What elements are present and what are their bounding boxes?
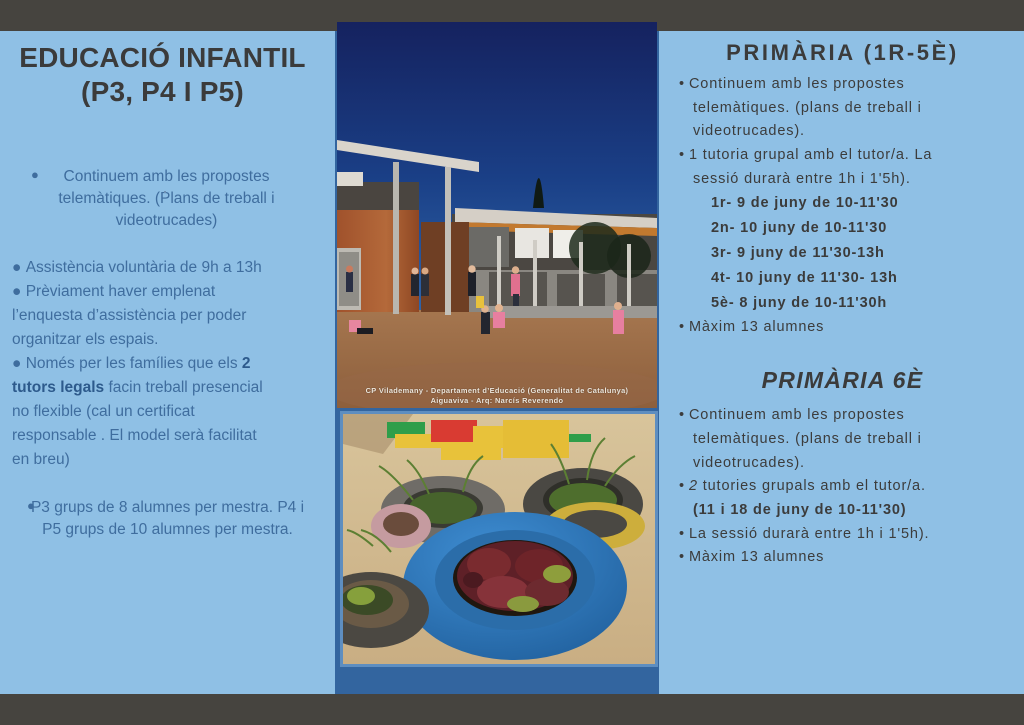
list-item-cont: telemàtiques. (plans de treball i: [679, 428, 1006, 452]
list-item: • Màxim 13 alumnes: [679, 316, 1006, 340]
primaria-1r5e-list: • Continuem amb les propostes telemàtiqu…: [679, 73, 1006, 191]
tyre-planters-garden-photo: [340, 411, 658, 667]
primaria-1r5e-maxim: • Màxim 13 alumnes: [679, 316, 1006, 340]
bullet-marker: •: [679, 478, 684, 494]
garden-photo-graphic: [343, 414, 655, 664]
schedule-row-5e: 5è- 8 juny de 10-11'30h: [679, 291, 1006, 316]
page-title-line2: (P3, P4 I P5): [12, 75, 313, 109]
left-column: EDUCACIÓ INFANTIL (P3, P4 I P5) ● Contin…: [0, 31, 325, 694]
left-item-nomes: ● Només per les famílies que els 2: [12, 353, 313, 375]
left-item-nomes-cont2: no flexible (cal un certificat: [12, 401, 313, 423]
tutoria-schedule-list: 1r- 9 de juny de 10-11'30 2n- 10 juny de…: [679, 191, 1006, 316]
left-item-nomes-cont3: responsable . El model serà facilitat: [12, 425, 313, 447]
schedule-row-3r: 3r- 9 juny de 11'30-13h: [679, 241, 1006, 266]
left-bullet-group-2: ● Assistència voluntària de 9h a 13h ● P…: [12, 257, 313, 471]
left-bullet-group-3: ● P3 grups de 8 alumnes per mestra. P4 i…: [12, 497, 313, 541]
list-item: • Màxim 13 alumnes: [679, 546, 1006, 570]
list-item: • La sessió durarà entre 1h i 1'5h).: [679, 523, 1006, 547]
list-item-cont: sessió durarà entre 1h i 1'5h).: [679, 168, 1006, 192]
list-item-cont: videotrucades).: [679, 120, 1006, 144]
left-item-previament-cont1: l’enquesta d’assistència per poder: [12, 305, 313, 327]
list-item: • Continuem amb les propostes: [679, 73, 1006, 97]
left-item-continuem: Continuem amb les propostes telemàtiques…: [58, 168, 274, 229]
bullet-marker: •: [679, 526, 684, 542]
bullet-marker: •: [679, 76, 684, 92]
left-item-assistencia: ● Assistència voluntària de 9h a 13h: [12, 257, 313, 279]
list-item-cont: telemàtiques. (plans de treball i: [679, 97, 1006, 121]
bullet-marker: ●: [12, 355, 21, 372]
bullet-marker: ●: [12, 259, 21, 276]
schedule-row-2n: 2n- 10 juny de 10-11'30: [679, 216, 1006, 241]
photo-credit-line2: Aiguaviva - Arq: Narcís Reverendo: [337, 396, 657, 406]
list-item: • Continuem amb les propostes: [679, 404, 1006, 428]
heading-primaria-6e: PRIMÀRIA 6È: [679, 367, 1006, 394]
list-item-tutories: • 2 tutories grupals amb el tutor/a.: [679, 475, 1006, 499]
heading-primaria-1r-5e: PRIMÀRIA (1R-5È): [679, 40, 1006, 66]
bullet-marker: •: [679, 147, 684, 163]
page-title-line1: EDUCACIÓ INFANTIL: [19, 42, 306, 73]
list-item-dates: (11 i 18 de juny de 10-11'30): [679, 499, 1006, 523]
left-bullet-group-1: ● Continuem amb les propostes telemàtiqu…: [12, 166, 313, 232]
left-item-nomes-cont1: tutors legals facin treball presencial: [12, 377, 313, 399]
list-item: • 1 tutoria grupal amb el tutor/a. La: [679, 144, 1006, 168]
page-title-educacio-infantil: EDUCACIÓ INFANTIL (P3, P4 I P5): [12, 41, 313, 109]
right-column: PRIMÀRIA (1R-5È) • Continuem amb les pro…: [659, 31, 1024, 694]
slide-canvas: EDUCACIÓ INFANTIL (P3, P4 I P5) ● Contin…: [0, 0, 1024, 725]
left-item-previament-cont2: organitzar els espais.: [12, 329, 313, 351]
left-item-nomes-cont4: en breu): [12, 449, 313, 471]
schedule-row-4t: 4t- 10 juny de 11'30- 13h: [679, 266, 1006, 291]
photo-credit-line1: CP Vilademany - Departament d’Educació (…: [337, 386, 657, 396]
bullet-marker: •: [679, 549, 684, 565]
school-building-playground-photo: CP Vilademany - Departament d’Educació (…: [337, 22, 657, 408]
photo-credit-caption: CP Vilademany - Departament d’Educació (…: [337, 386, 657, 406]
list-item-cont: videotrucades).: [679, 452, 1006, 476]
bullet-marker: •: [679, 407, 684, 423]
bullet-marker: ●: [31, 168, 39, 181]
left-item-grups: P3 grups de 8 alumnes per mestra. P4 i P…: [31, 499, 304, 538]
left-item-previament: ● Prèviament haver emplenat: [12, 281, 313, 303]
schedule-row-1r: 1r- 9 de juny de 10-11'30: [679, 191, 1006, 216]
primaria-6e-list: • Continuem amb les propostes telemàtiqu…: [679, 404, 1006, 569]
bullet-marker: •: [679, 319, 684, 335]
bullet-marker: ●: [12, 283, 21, 300]
bullet-marker: ●: [27, 497, 35, 516]
stray-dot-mark: [164, 191, 166, 193]
school-photo-graphic: [337, 22, 657, 408]
